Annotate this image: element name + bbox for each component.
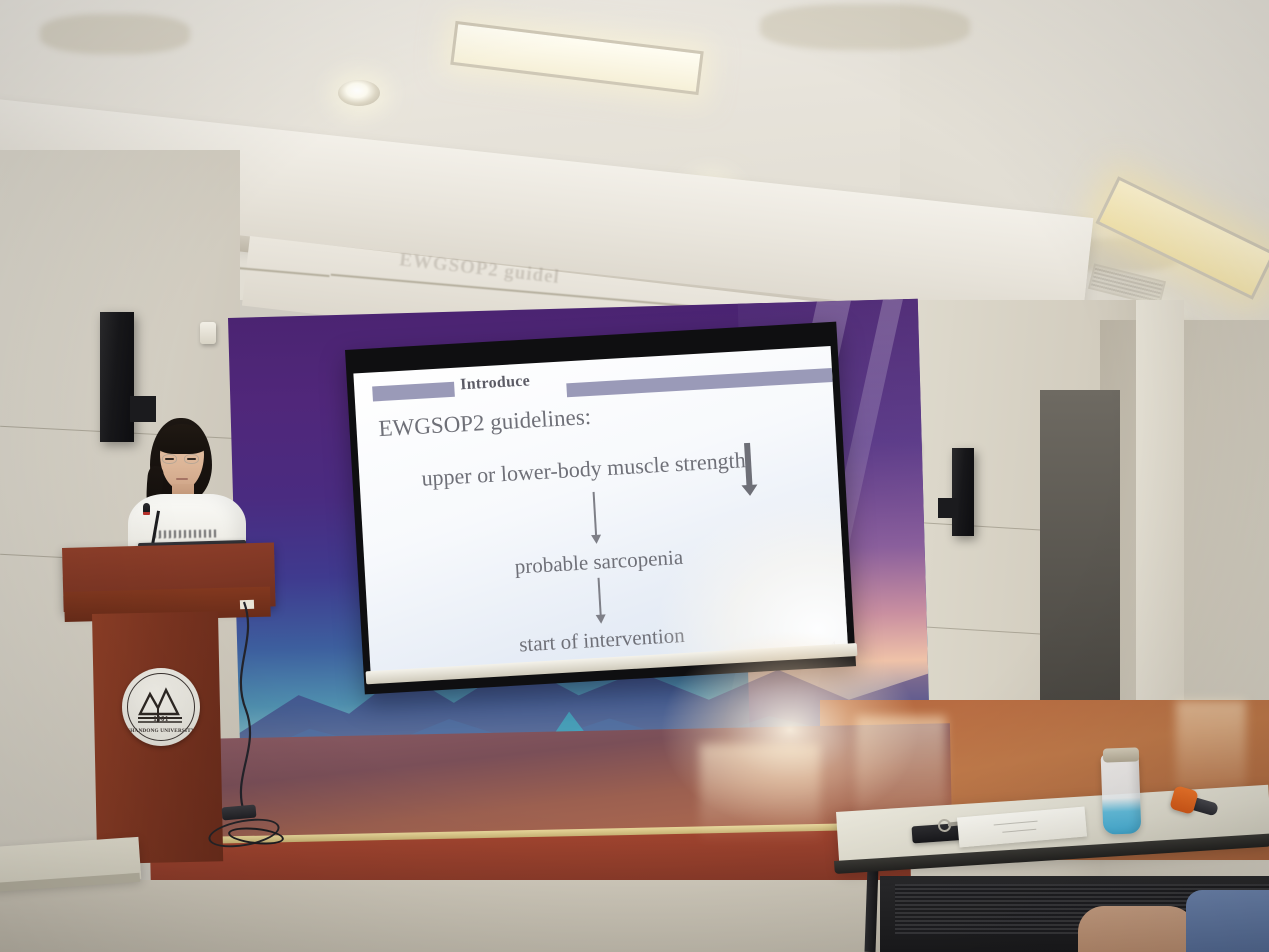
slide-flow-step-3: start of intervention [519,623,686,657]
ceiling-stain [760,4,970,50]
podium-cable [200,600,290,830]
slide-surface: Introduce EWGSOP2 guidelines: upper or l… [353,346,848,682]
shirt-script-print [154,529,218,538]
slide-heading: EWGSOP2 guidelines: [378,404,592,442]
projection-screen: Introduce EWGSOP2 guidelines: upper or l… [345,322,856,695]
flow-arrow-icon [593,492,598,536]
university-emblem: 1901 SHANDONG UNIVERSITY [122,668,200,746]
lecture-hall-photo: EWGSOP2 guidel Introduce EWGSOP2 gu [0,0,1269,952]
emblem-university-name: SHANDONG UNIVERSITY [122,728,200,734]
audience-sleeve [1186,890,1269,952]
slide-section-title: Introduce [460,372,531,394]
emblem-mountains-icon [122,668,200,746]
wall-speaker-right [952,448,974,536]
water-bottle [1101,753,1142,834]
audience-hand [1078,906,1198,952]
presenter-eye-right [187,458,196,460]
ceiling-downlight [338,80,380,106]
slide-accent-bar-right [566,368,832,397]
microphone-band [143,512,150,515]
flow-arrow-icon [598,578,602,616]
wall-sensor-left [200,322,216,344]
emblem-year: 1901 [122,715,200,723]
paper-line [1002,829,1036,833]
bottle-cap [1103,747,1139,762]
slide-flow-step-2: probable sarcopenia [514,545,684,580]
slide-flow-step-1: upper or lower-body muscle strength [421,447,747,492]
ceiling-stain [40,14,190,54]
glasses-icon [162,454,202,464]
paper-line [994,821,1038,826]
slide-accent-bar-left [372,382,455,402]
speaker-bracket-right [938,498,958,518]
decrease-arrow-icon [744,443,753,487]
presenter-eye-left [165,458,174,460]
